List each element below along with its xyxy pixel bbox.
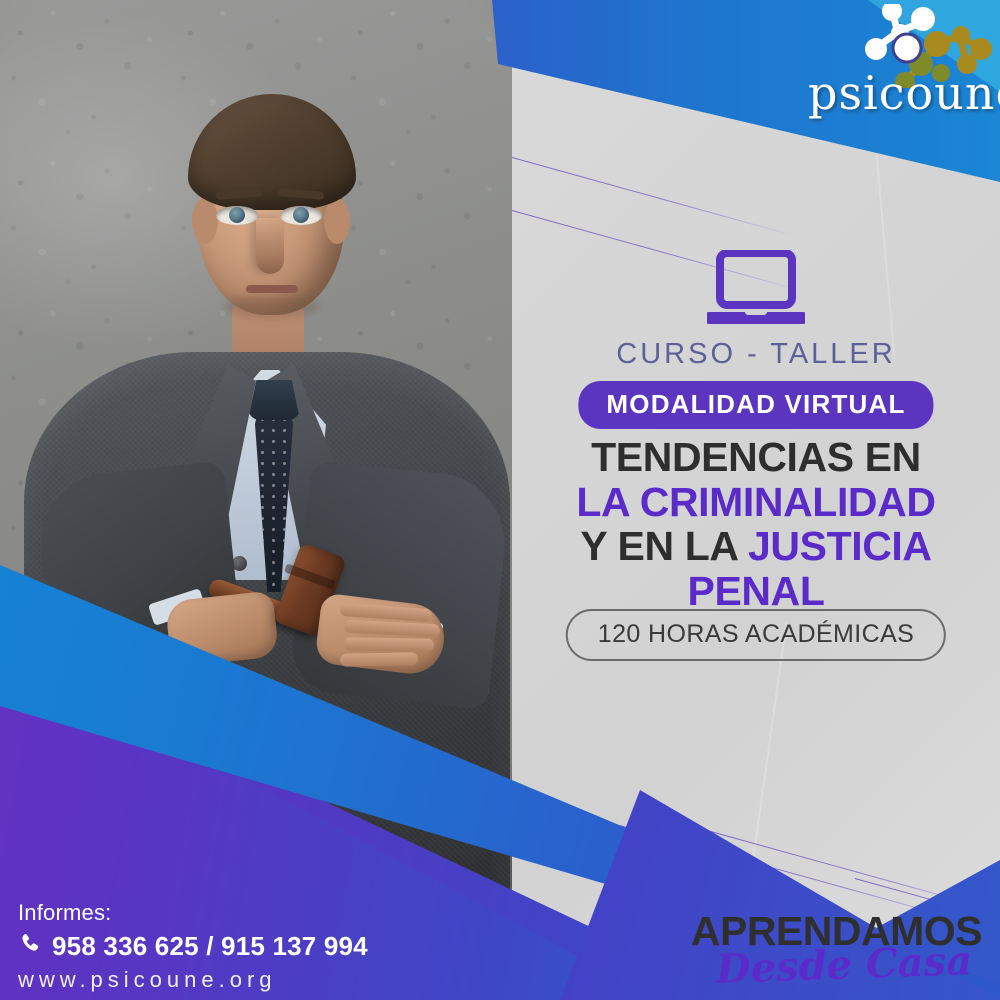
hours-badge: 120 HORAS ACADÉMICAS — [566, 609, 946, 661]
slogan-block: APRENDAMOS Desde Casa — [691, 911, 982, 986]
phone-icon — [18, 932, 42, 961]
modality-badge: MODALIDAD VIRTUAL — [578, 381, 933, 429]
course-title: TENDENCIAS EN LA CRIMINALIDAD Y EN LA JU… — [512, 435, 1000, 614]
course-eyebrow: CURSO - TALLER — [512, 338, 1000, 371]
website-url[interactable]: www.psicoune.org — [18, 967, 458, 993]
title-line-3-accent: JUSTICIA — [748, 523, 932, 569]
title-line-2: LA CRIMINALIDAD — [512, 480, 1000, 525]
slogan-line-2: Desde Casa — [690, 941, 972, 991]
phone-numbers: 958 336 625 / 915 137 994 — [52, 931, 368, 962]
title-line-3: Y EN LA JUSTICIA — [512, 524, 1000, 569]
laptop-icon — [707, 250, 805, 331]
title-line-1: TENDENCIAS EN — [512, 435, 1000, 480]
contact-label: Informes: — [18, 900, 458, 926]
promotional-flyer: psicoune CURSO - TALLER MODALIDAD VIRTUA… — [0, 0, 1000, 1000]
title-line-4: PENAL — [512, 569, 1000, 614]
contact-block: Informes: 958 336 625 / 915 137 994 www.… — [18, 900, 458, 993]
course-content: CURSO - TALLER MODALIDAD VIRTUAL TENDENC… — [512, 0, 1000, 1000]
phone-row[interactable]: 958 336 625 / 915 137 994 — [18, 931, 458, 962]
title-line-3-plain: Y EN LA — [580, 523, 748, 569]
